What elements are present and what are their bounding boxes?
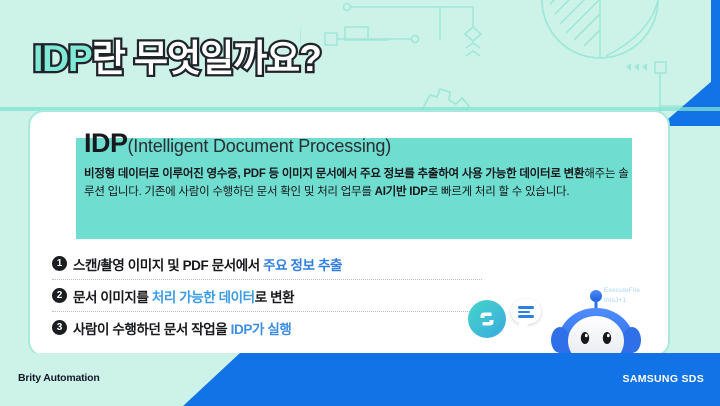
paragraph-regular-2: 로 빠르게 처리 할 수 있습니다.	[428, 186, 570, 198]
list-item: 1 스캔/촬영 이미지 및 PDF 문서에서 주요 정보 추출	[52, 248, 482, 280]
list-item-highlight: 주요 정보 추출	[263, 258, 342, 273]
paragraph-bold-2: AI기반 IDP	[375, 186, 428, 198]
list-item: 2 문서 이미지를 처리 가능한 데이터로 변환	[52, 280, 482, 312]
bullet-number: 1	[52, 256, 67, 271]
slide-root: IDP란 무엇일까요? IDP(Intelligent Document Pro…	[0, 0, 720, 406]
page-title-accent: IDP	[33, 38, 92, 79]
paragraph-bold-1: 비정형 데이터로 이루어진 영수증, PDF 등 이미지 문서에서 주요 정보를…	[84, 168, 584, 180]
list-item-pre: 문서 이미지를	[73, 290, 152, 305]
background-code-text: ExecuteFile thisJ+1	[604, 286, 640, 306]
brity-logo-icon	[468, 300, 506, 338]
list-item-pre: 사람이 수행하던 문서 작업을	[73, 322, 231, 337]
card-paragraph: 비정형 데이터로 이루어진 영수증, PDF 등 이미지 문서에서 주요 정보를…	[84, 166, 629, 201]
code-line-2: thisJ+1	[604, 296, 640, 306]
list-item-text: 문서 이미지를 처리 가능한 데이터로 변환	[73, 286, 294, 306]
card-heading-sub: (Intelligent Document Processing)	[128, 136, 392, 156]
card-heading: IDP(Intelligent Document Processing)	[84, 130, 391, 157]
footer: Brity Automation SAMSUNG SDS	[0, 353, 720, 406]
bullet-number: 2	[52, 288, 67, 303]
code-line-1: ExecuteFile	[604, 286, 640, 296]
footer-brand-left: Brity Automation	[18, 372, 100, 384]
footer-brand-right: SAMSUNG SDS	[623, 373, 704, 385]
list-item: 3 사람이 수행하던 문서 작업을 IDP가 실행	[52, 312, 482, 343]
list-item-text: 스캔/촬영 이미지 및 PDF 문서에서 주요 정보 추출	[73, 254, 342, 274]
bullet-number: 3	[52, 320, 67, 335]
list-item-post: 로 변환	[255, 290, 294, 305]
list-item-text: 사람이 수행하던 문서 작업을 IDP가 실행	[73, 318, 291, 338]
page-title-rest: 란 무엇일까요?	[92, 38, 321, 79]
page-title: IDP란 무엇일까요?	[33, 28, 321, 82]
list-item-highlight: 처리 가능한 데이터	[152, 290, 255, 305]
card-heading-main: IDP	[84, 128, 128, 158]
list-item-highlight: IDP가 실행	[231, 322, 292, 337]
feature-list: 1 스캔/촬영 이미지 및 PDF 문서에서 주요 정보 추출 2 문서 이미지…	[52, 248, 482, 343]
list-item-pre: 스캔/촬영 이미지 및 PDF 문서에서	[73, 258, 263, 273]
